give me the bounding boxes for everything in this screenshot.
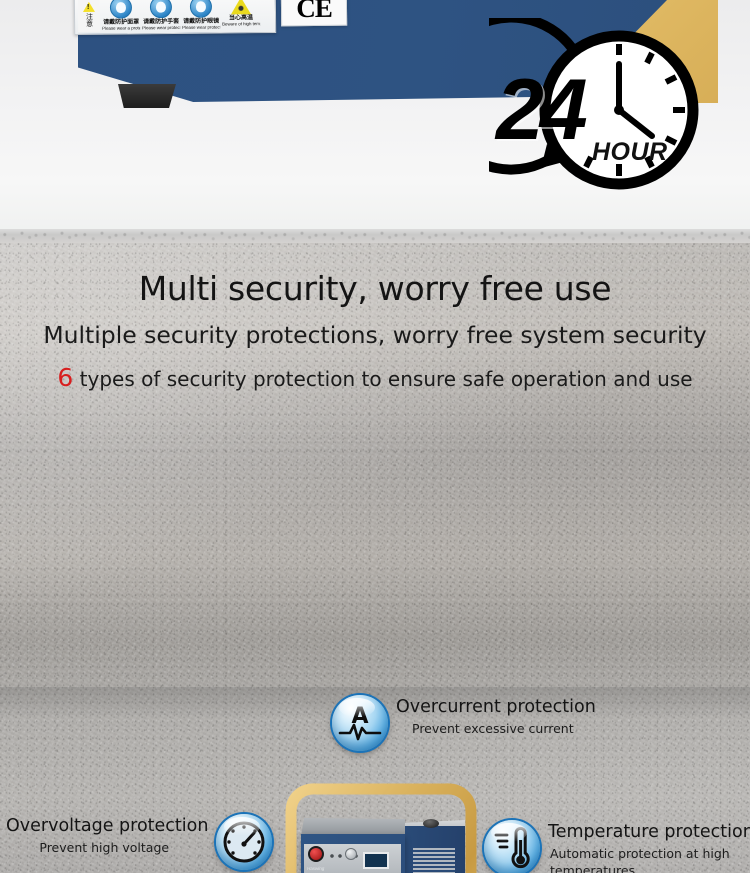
hot-surface-icon [231, 0, 251, 14]
feature-text: Temperature protection Automatic protect… [548, 820, 750, 873]
feature-temperature: Temperature protection Automatic protect… [484, 820, 750, 873]
machine-top-knob [423, 819, 439, 828]
label-item-hot-surface: 当心高温 Beware of high temperature [222, 0, 260, 31]
goggles-icon [190, 0, 212, 17]
safety-warning-label: 注意 请戴防护面罩 Please wear a protective mask … [74, 0, 276, 35]
label-item-en: Beware of high temperature [222, 22, 260, 27]
caution-cell: 注意 [78, 0, 100, 32]
machine-vents [413, 848, 455, 873]
label-item-face-shield: 请戴防护面罩 Please wear a protective mask [102, 0, 140, 32]
product-photo-section: Born for premium quality 为精致、专注而生 Has 注意… [0, 0, 750, 243]
security-features-section: Multi security, worry free use Multiple … [0, 243, 750, 873]
headings: Multi security, worry free use Multiple … [0, 243, 750, 392]
ammeter-waveform-icon: A [332, 695, 388, 751]
feature-text: Overcurrent protection Prevent excessive… [396, 695, 596, 738]
clock-unit: HOUR [592, 138, 668, 167]
clock-number: 24 [496, 76, 584, 145]
label-item-cn: 请戴防护手套 [143, 19, 179, 25]
feature-overvoltage: Overvoltage protection Prevent high volt… [6, 814, 272, 870]
product-infographic-page: Born for premium quality 为精致、专注而生 Has 注意… [0, 0, 750, 873]
thermometer-icon [484, 820, 540, 873]
machine-brand-text: Haswing [307, 866, 324, 871]
clock-24-hour-icon: 24 HOUR [489, 18, 709, 210]
feature-subtitle: Automatic protection at high temperature… [550, 846, 750, 873]
induction-heating-machine: Haswing CE Born for premium quality [301, 818, 465, 873]
label-item-goggles: 请戴防护眼镜 Please wear protective glasses [182, 0, 220, 31]
label-item-gloves: 请戴防护手套 Please wear protective gloves [142, 0, 180, 31]
ce-mark: CE [281, 0, 347, 26]
warning-triangle-icon [83, 1, 95, 11]
label-item-en: Please wear protective gloves [142, 26, 180, 31]
feature-title: Overvoltage protection [6, 817, 208, 835]
feature-title: Temperature protection [548, 823, 750, 841]
machine-foot-left [118, 84, 176, 108]
gloves-icon [150, 0, 172, 18]
page-subtitle: Multiple security protections, worry fre… [0, 321, 750, 349]
panel-digital-meter [363, 852, 389, 869]
label-item-en: Please wear a protective mask [102, 26, 140, 31]
page-tagline: 6 types of security protection to ensure… [0, 363, 750, 392]
feature-text: Overvoltage protection Prevent high volt… [6, 814, 208, 857]
feature-subtitle: Prevent high voltage [6, 840, 202, 857]
tagline-text: types of security protection to ensure s… [73, 367, 692, 391]
label-item-cn: 请戴防护眼镜 [183, 18, 219, 24]
label-item-cn: 请戴防护面罩 [103, 19, 139, 25]
feature-title: Overcurrent protection [396, 698, 596, 716]
feature-subtitle: Prevent excessive current [412, 721, 596, 738]
label-item-en: Please wear protective glasses [182, 25, 220, 30]
tagline-count: 6 [57, 363, 73, 392]
panel-rotary-knob[interactable] [345, 848, 357, 860]
label-item-cn: 当心高温 [229, 15, 253, 21]
emergency-stop-button[interactable] [308, 846, 324, 862]
voltage-gauge-icon [216, 814, 272, 870]
caution-chinese-text: 注意 [85, 12, 92, 26]
page-title: Multi security, worry free use [0, 269, 750, 308]
floor-strip [0, 229, 750, 243]
face-shield-icon [110, 0, 132, 18]
feature-overcurrent: A Overcurrent protection Prevent excessi… [332, 695, 596, 751]
